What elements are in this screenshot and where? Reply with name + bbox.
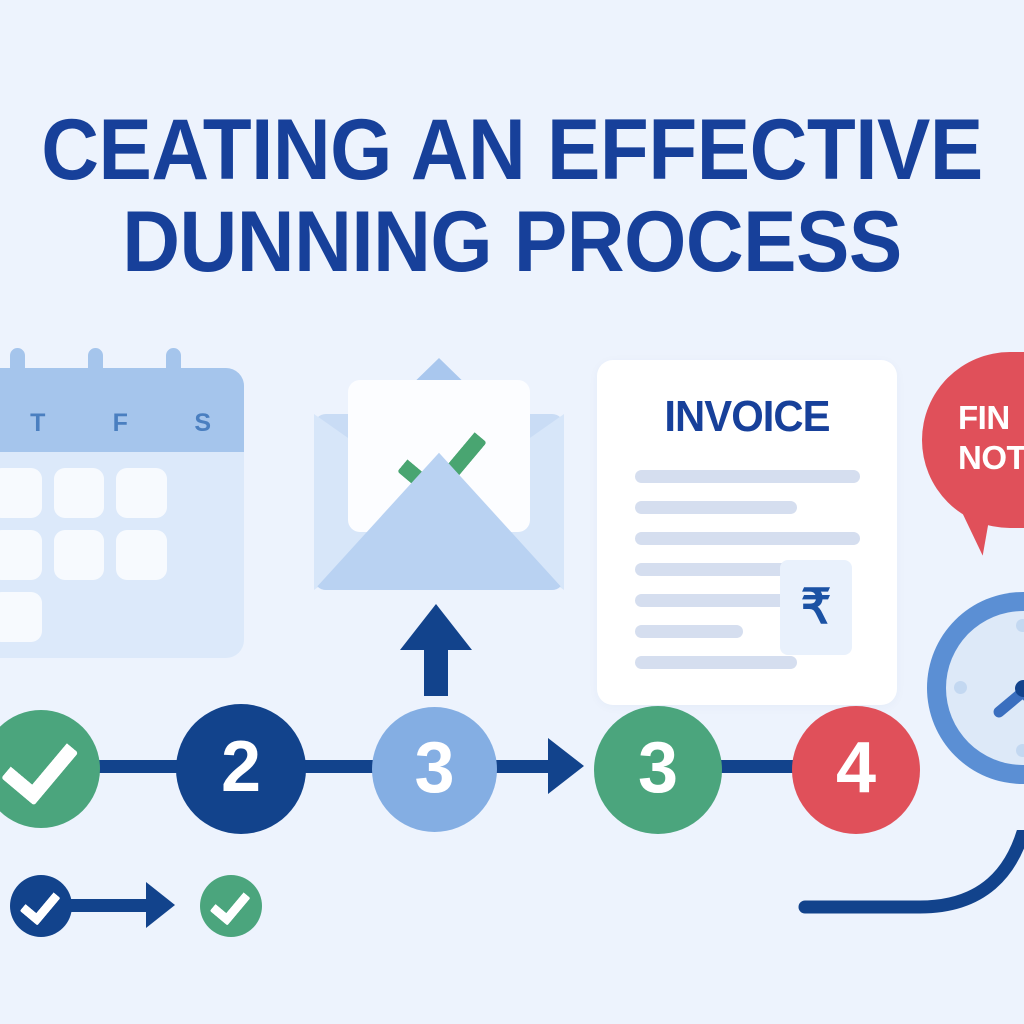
check-icon xyxy=(210,883,251,925)
calendar-day-label: T xyxy=(18,409,58,438)
curved-connector xyxy=(780,830,1024,1024)
clock-tick xyxy=(1016,619,1024,632)
calendar-cell xyxy=(116,592,167,642)
title-line-2: DUNNING PROCESS xyxy=(36,196,988,288)
clock-icon xyxy=(927,592,1024,784)
sub-flow-node-start[interactable] xyxy=(10,875,72,937)
calendar-grid xyxy=(0,452,244,658)
invoice-line xyxy=(635,563,797,576)
page-title: CEATING AN EFFECTIVE DUNNING PROCESS xyxy=(0,104,1024,288)
infographic-canvas: CEATING AN EFFECTIVE DUNNING PROCESS M T… xyxy=(0,0,1024,1024)
calendar-header: M T F S xyxy=(0,368,244,452)
timeline-step-5[interactable]: 4 xyxy=(792,706,920,834)
timeline-step-label: 4 xyxy=(836,732,876,804)
arrow-up-icon xyxy=(400,604,472,696)
check-icon xyxy=(20,883,61,925)
calendar-day-label: S xyxy=(183,409,223,438)
invoice-line xyxy=(635,656,797,669)
timeline-step-label: 3 xyxy=(414,732,454,804)
timeline-step-1[interactable] xyxy=(0,710,100,828)
calendar-day-label: F xyxy=(100,409,140,438)
calendar-cell xyxy=(116,468,167,518)
calendar-cell xyxy=(179,468,230,518)
invoice-line xyxy=(635,594,797,607)
timeline-arrow-icon xyxy=(548,738,584,794)
arrow-stem xyxy=(424,644,448,696)
clock-tick xyxy=(1016,744,1024,757)
timeline-step-label: 2 xyxy=(221,731,261,803)
calendar-cell xyxy=(0,530,42,580)
check-icon xyxy=(1,725,78,805)
rupee-badge: ₹ xyxy=(780,560,852,655)
calendar-cell xyxy=(0,468,42,518)
clock-face xyxy=(946,611,1024,765)
sub-flow-node-end[interactable] xyxy=(200,875,262,937)
invoice-line xyxy=(635,501,797,514)
open-envelope-icon xyxy=(314,358,564,590)
calendar-icon: M T F S xyxy=(0,368,244,658)
invoice-card: INVOICE xyxy=(597,360,897,705)
calendar-cell xyxy=(116,530,167,580)
sub-flow-arrow-stem xyxy=(64,899,148,912)
calendar-cell xyxy=(54,530,105,580)
timeline-step-2[interactable]: 2 xyxy=(176,704,306,834)
speech-bubble-line-2: NOT xyxy=(958,439,1024,476)
calendar-cell xyxy=(179,530,230,580)
invoice-title: INVOICE xyxy=(605,392,890,442)
rupee-icon: ₹ xyxy=(780,584,852,632)
calendar-cell xyxy=(179,592,230,642)
calendar-cell xyxy=(54,592,105,642)
clock-tick xyxy=(954,681,967,694)
sub-flow-arrow-icon xyxy=(146,882,175,928)
invoice-line xyxy=(635,470,860,483)
invoice-line xyxy=(635,532,860,545)
timeline-step-3[interactable]: 3 xyxy=(372,707,497,832)
timeline-step-4[interactable]: 3 xyxy=(594,706,722,834)
calendar-cell xyxy=(54,468,105,518)
calendar-cell xyxy=(0,592,42,642)
timeline-step-label: 3 xyxy=(638,732,678,804)
title-line-1: CEATING AN EFFECTIVE xyxy=(36,104,988,196)
speech-bubble-line-1: FIN xyxy=(958,399,1010,436)
invoice-line xyxy=(635,625,743,638)
speech-bubble-text: FIN NOT xyxy=(958,398,1024,478)
